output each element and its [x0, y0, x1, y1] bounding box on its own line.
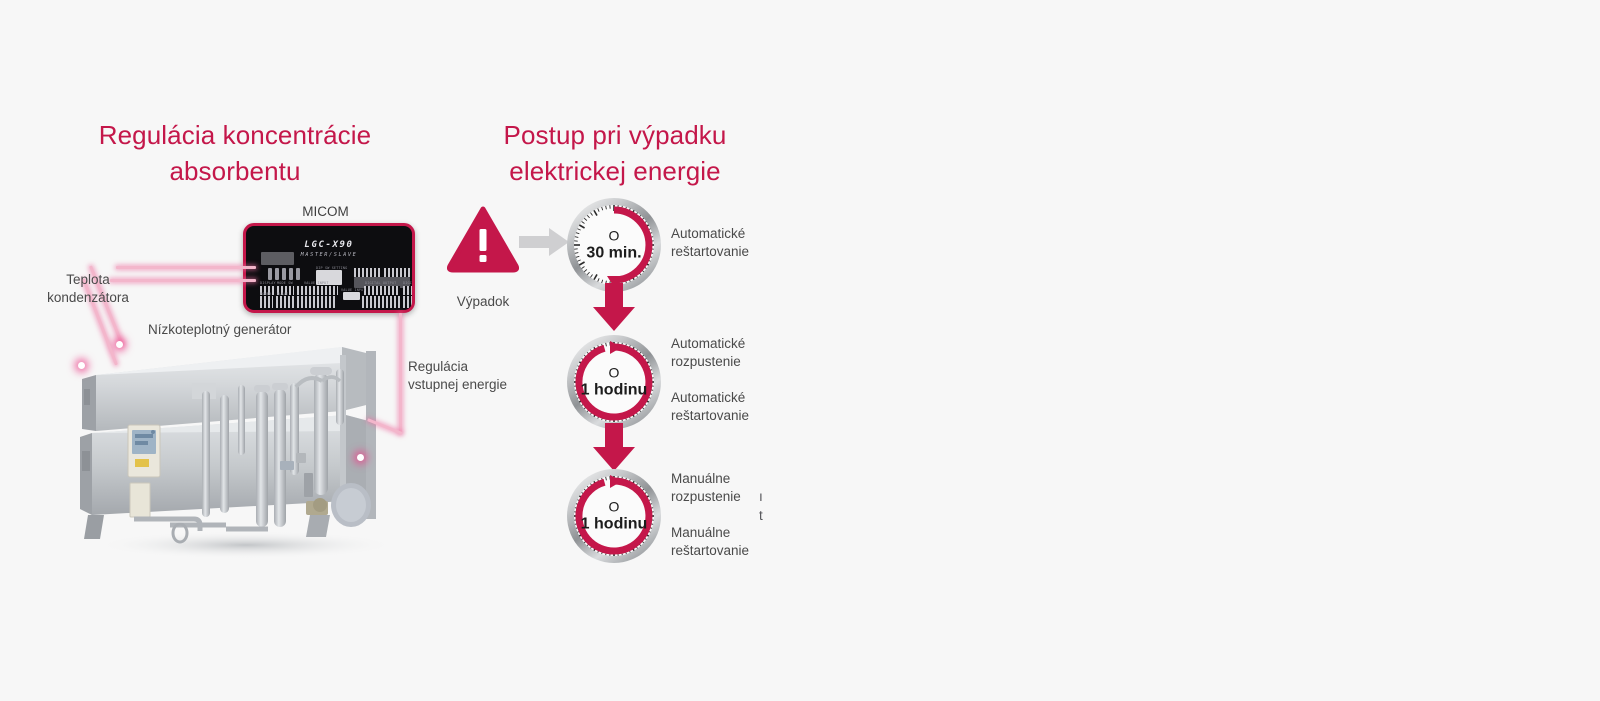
- callout-input-energy-control: Regulácia vstupnej energie: [408, 358, 528, 394]
- board-silkscreen: SLAVE: [277, 292, 288, 296]
- board-dip-switch-small: [343, 292, 360, 300]
- board-pin-header: [384, 268, 411, 277]
- callout-line-horizontal: [116, 266, 256, 269]
- step-note-manual-restart: Manuálne reštartovanie: [671, 524, 791, 560]
- board-capacitor: [296, 268, 300, 280]
- callout-endpoint-dot: [357, 454, 364, 461]
- absorption-chiller-image: [74, 333, 404, 558]
- board-capacitor: [275, 268, 279, 280]
- board-silkscreen: POWER: [260, 292, 271, 296]
- warning-triangle-group: [447, 203, 519, 285]
- warning-triangle-icon: [447, 203, 519, 275]
- micom-control-board: LGC-X90 MASTER/SLAVE DISPLAY MODE SW VAL…: [243, 223, 415, 313]
- board-capacitor: [268, 268, 272, 280]
- board-chip: [261, 252, 294, 265]
- right-panel-title: Postup pri výpadku elektrickej energie: [465, 118, 765, 190]
- flow-arrow-down-icon: [593, 423, 635, 471]
- timer-gauge-1-hour-automatic: O 1 hodinu: [566, 334, 662, 430]
- micom-label: MICOM: [268, 203, 383, 221]
- board-silkscreen: VALUE INPUT: [304, 281, 329, 285]
- board-silkscreen: DIP SW SETTING: [316, 266, 347, 270]
- infographic-canvas: Regulácia koncentrácie absorbentu Postup…: [0, 0, 1600, 701]
- callout-condenser-temperature: Teplota kondenzátora: [38, 271, 138, 307]
- warning-label: Výpadok: [440, 293, 526, 311]
- board-silkscreen: DISPLAY: [260, 281, 276, 285]
- callout-endpoint-dot: [116, 341, 123, 348]
- board-pin-header: [276, 296, 294, 308]
- clipped-text-fragment: t: [759, 507, 763, 525]
- board-capacitor: [282, 268, 286, 280]
- board-pin-header: [403, 296, 415, 308]
- step-note-auto-restart-1: Automatické reštartovanie: [671, 225, 791, 261]
- step-note-auto-dissolution: Automatické rozpustenie: [671, 335, 791, 371]
- flow-arrow-down-icon: [593, 283, 635, 331]
- callout-low-temperature-generator: Nízkoteplotný generátor: [148, 321, 298, 339]
- board-silkscreen: MODE SW: [277, 281, 293, 285]
- step-note-auto-restart-2: Automatické reštartovanie: [671, 389, 791, 425]
- timer-gauge-1-hour-manual: O 1 hodinu: [566, 468, 662, 564]
- step-note-manual-dissolution: Manuálne rozpustenie: [671, 470, 791, 506]
- board-pin-header: [403, 286, 415, 295]
- board-silkscreen: DIGITAL INPUT: [403, 281, 415, 285]
- board-pin-header: [354, 268, 380, 277]
- clipped-text-fragment: ı: [759, 488, 763, 506]
- board-pin-header: [364, 286, 400, 295]
- arrow-right-icon: [519, 226, 569, 258]
- board-pin-header: [362, 296, 400, 308]
- board-brand-text: LGC-X90: [246, 240, 412, 250]
- board-pin-header: [260, 296, 273, 308]
- left-panel-title: Regulácia koncentrácie absorbentu: [60, 118, 410, 190]
- board-silkscreen: VALUE INPUT: [341, 288, 366, 292]
- board-capacitor: [289, 268, 293, 280]
- board-pin-header: [297, 296, 337, 308]
- callout-endpoint-dot: [78, 362, 85, 369]
- timer-gauge-30-min: O 30 min.: [566, 197, 662, 293]
- board-silkscreen: DIGITAL OUTPUT: [365, 281, 396, 285]
- board-pin-header: [297, 286, 338, 295]
- callout-line-vertical: [399, 313, 402, 433]
